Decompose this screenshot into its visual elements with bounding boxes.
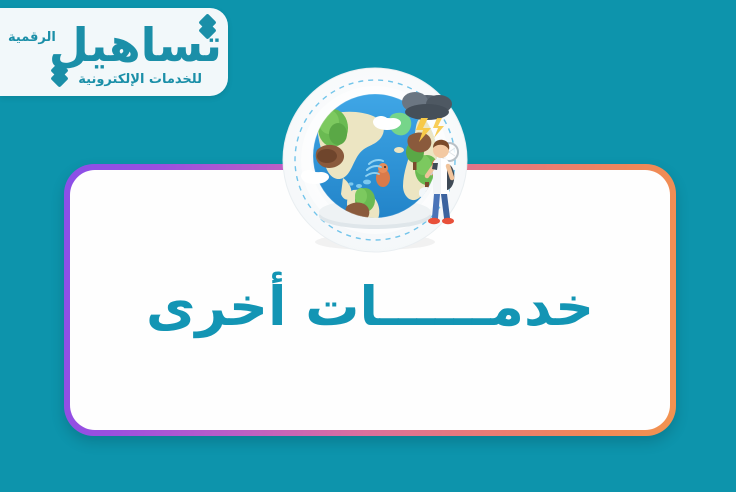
globe-nature-icon [281, 66, 469, 254]
logo-wordmark: تساهيل [49, 22, 222, 68]
diamond-stack-icon-bottom [52, 64, 68, 88]
page-root: الرقمية تساهيل للخدمات الإلكترونية خدمــ… [0, 0, 736, 492]
logo-inner: الرقمية تساهيل للخدمات الإلكترونية [0, 8, 228, 96]
logo-subtitle: للخدمات الإلكترونية [78, 72, 202, 87]
globe-illustration [281, 66, 469, 254]
page-title: خدمــــــات أخرى [146, 277, 594, 336]
logo-badge[interactable]: الرقمية تساهيل للخدمات الإلكترونية [0, 8, 228, 96]
